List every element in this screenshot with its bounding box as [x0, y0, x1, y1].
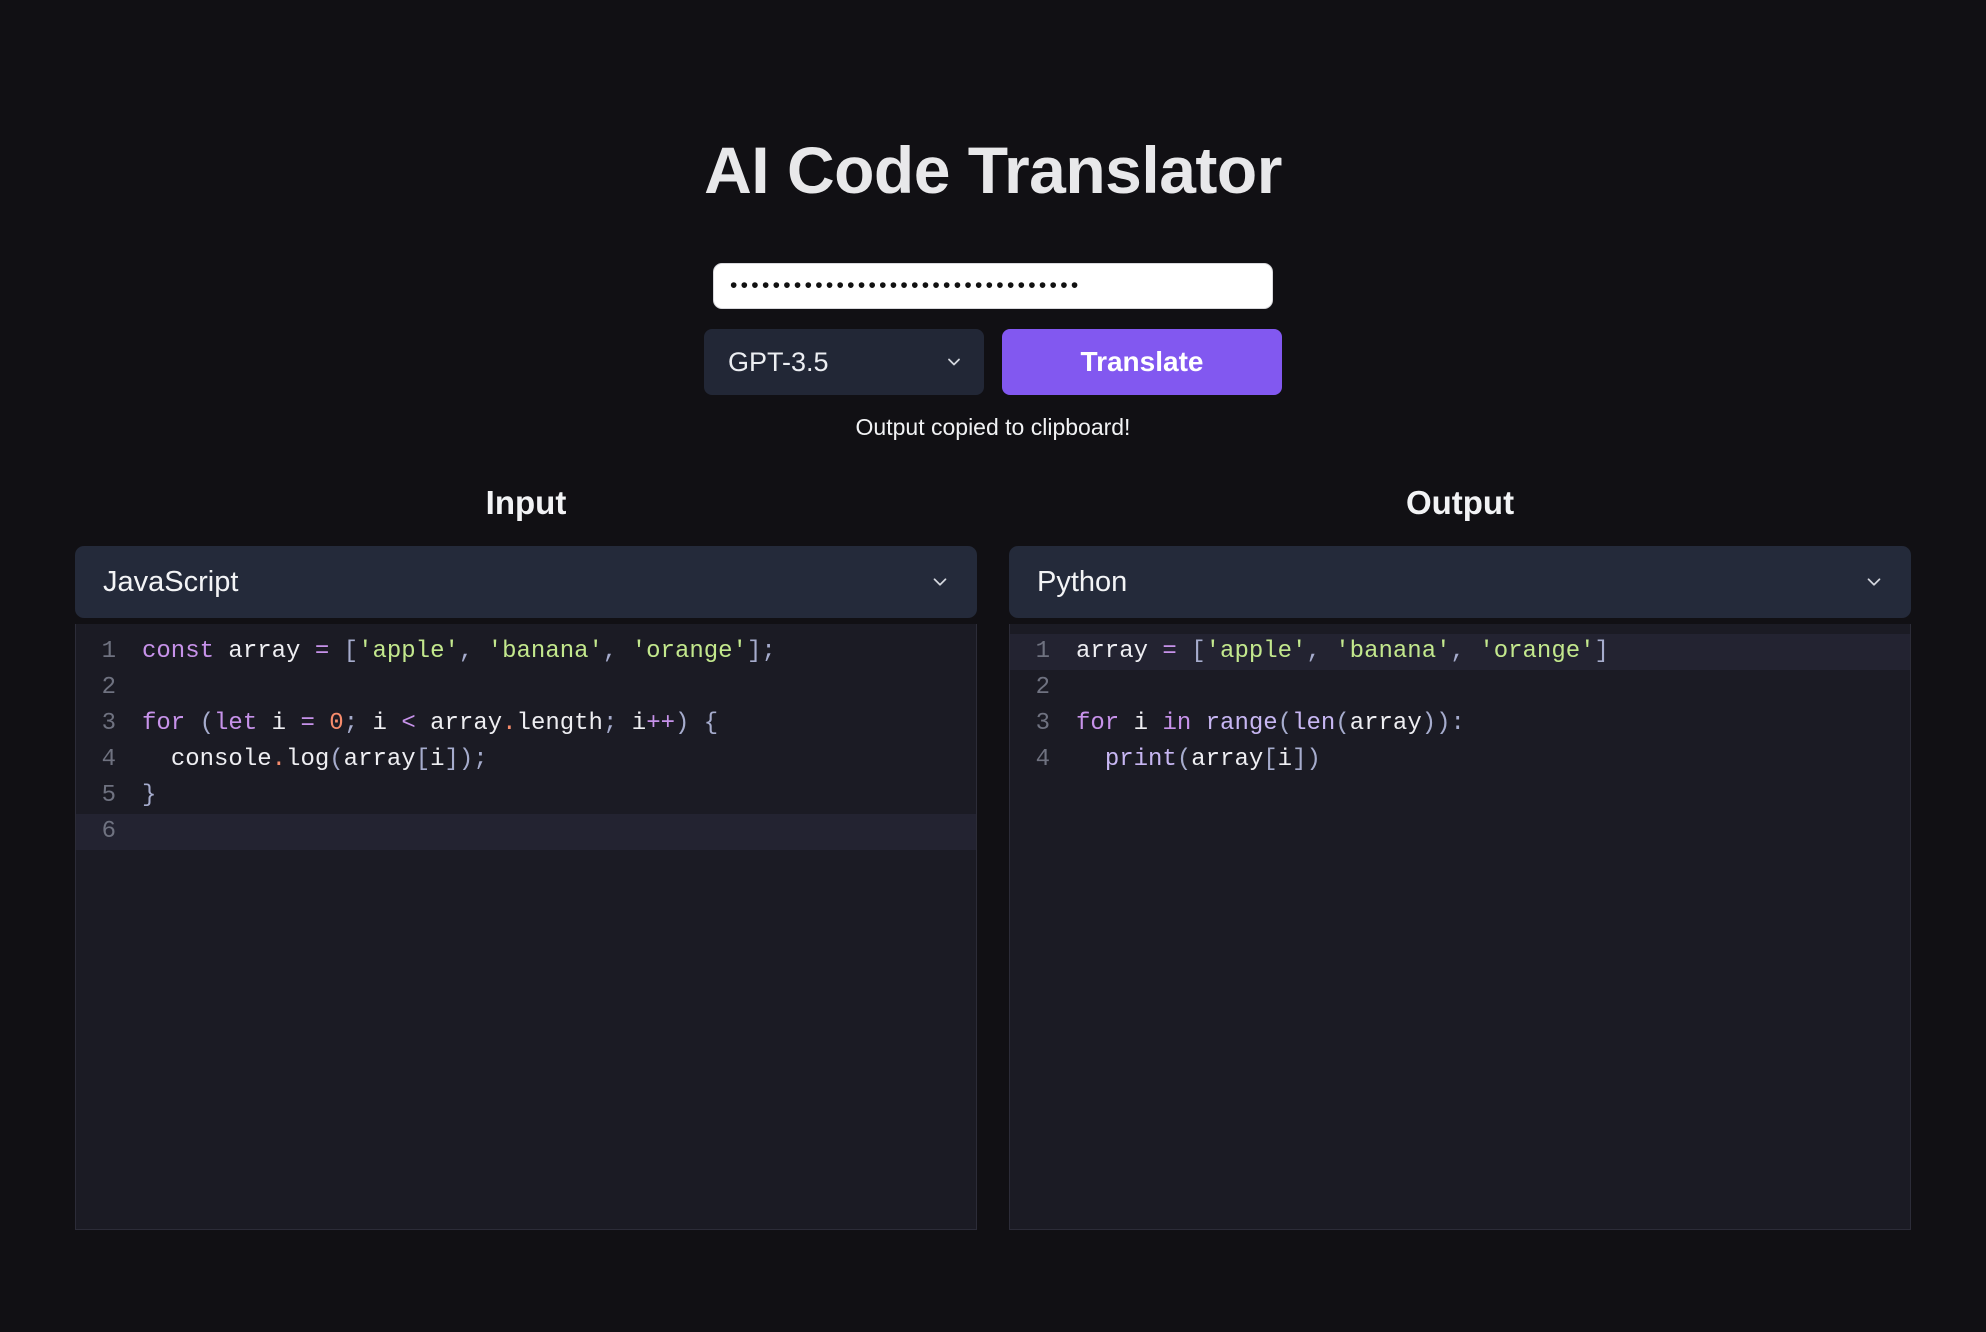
- code-token: range: [1206, 710, 1278, 737]
- code-token: print: [1105, 746, 1177, 773]
- code-token: length: [517, 710, 603, 737]
- code-token: [387, 710, 401, 737]
- code-token: i: [272, 710, 286, 737]
- model-select[interactable]: GPT-3.5: [704, 329, 984, 395]
- output-pane-title: Output: [1009, 484, 1911, 522]
- code-token: [1177, 638, 1191, 665]
- line-number: 2: [1010, 670, 1062, 706]
- code-token: [185, 710, 199, 737]
- code-token: array: [1191, 746, 1263, 773]
- code-line: 1array = ['apple', 'banana', 'orange']: [1010, 634, 1910, 670]
- code-token: ,: [1306, 638, 1320, 665]
- code-text: }: [128, 778, 156, 814]
- code-token: [329, 638, 343, 665]
- line-number: 4: [76, 742, 128, 778]
- code-token: array: [430, 710, 502, 737]
- code-text: for i in range(len(array)):: [1062, 706, 1465, 742]
- code-token: [286, 710, 300, 737]
- status-message: Output copied to clipboard!: [0, 414, 1986, 441]
- code-token: let: [214, 710, 257, 737]
- code-token: [: [1263, 746, 1277, 773]
- chevron-down-icon: [944, 352, 964, 372]
- panes-container: Input JavaScript 1const array = ['apple'…: [0, 484, 1986, 1230]
- code-token: 'apple': [1206, 638, 1307, 665]
- code-token: [1076, 746, 1105, 773]
- code-text: const array = ['apple', 'banana', 'orang…: [128, 634, 776, 670]
- code-token: 'banana': [1335, 638, 1450, 665]
- code-token: [257, 710, 271, 737]
- code-line: 1const array = ['apple', 'banana', 'oran…: [76, 634, 976, 670]
- input-language-select[interactable]: JavaScript: [75, 546, 977, 618]
- code-token: i: [430, 746, 444, 773]
- code-text: array = ['apple', 'banana', 'orange']: [1062, 634, 1609, 670]
- model-select-label: GPT-3.5: [728, 347, 829, 378]
- code-token: 'orange': [1479, 638, 1594, 665]
- code-token: 'apple': [358, 638, 459, 665]
- code-token: [: [1191, 638, 1205, 665]
- code-token: (: [1335, 710, 1349, 737]
- code-line: 4 console.log(array[i]);: [76, 742, 976, 778]
- code-line: 5}: [76, 778, 976, 814]
- code-token: =: [300, 710, 314, 737]
- input-pane-title: Input: [75, 484, 977, 522]
- code-token: [142, 746, 171, 773]
- code-token: array: [1076, 638, 1148, 665]
- code-token: }: [142, 782, 156, 809]
- code-token: (: [200, 710, 214, 737]
- code-token: <: [401, 710, 415, 737]
- code-token: [1119, 710, 1133, 737]
- code-token: 0: [329, 710, 343, 737]
- code-token: (: [329, 746, 343, 773]
- line-number: 4: [1010, 742, 1062, 778]
- code-token: i: [632, 710, 646, 737]
- chevron-down-icon: [1863, 571, 1885, 593]
- code-token: ++: [646, 710, 675, 737]
- output-language-select[interactable]: Python: [1009, 546, 1911, 618]
- code-token: ]: [1595, 638, 1609, 665]
- code-token: [473, 638, 487, 665]
- code-line: 3for i in range(len(array)):: [1010, 706, 1910, 742]
- code-line: 3for (let i = 0; i < array.length; i++) …: [76, 706, 976, 742]
- code-token: [315, 710, 329, 737]
- chevron-down-icon: [929, 571, 951, 593]
- code-token: ,: [459, 638, 473, 665]
- output-pane: Output Python 1array = ['apple', 'banana…: [1009, 484, 1911, 1230]
- code-token: ;: [603, 710, 632, 737]
- code-token: =: [315, 638, 329, 665]
- line-number: 1: [76, 634, 128, 670]
- code-text: console.log(array[i]);: [128, 742, 488, 778]
- code-token: console: [171, 746, 272, 773]
- code-token: i: [1134, 710, 1148, 737]
- code-token: [1148, 710, 1162, 737]
- page-title: AI Code Translator: [0, 0, 1986, 205]
- code-token: ]);: [445, 746, 488, 773]
- code-token: const: [142, 638, 214, 665]
- code-token: [300, 638, 314, 665]
- api-key-row: •••••••••••••••••••••••••••••••••: [0, 263, 1986, 309]
- code-token: ];: [747, 638, 776, 665]
- code-token: log: [286, 746, 329, 773]
- code-token: [416, 710, 430, 737]
- input-pane: Input JavaScript 1const array = ['apple'…: [75, 484, 977, 1230]
- code-token: in: [1162, 710, 1191, 737]
- code-token: ]): [1292, 746, 1321, 773]
- code-token: i: [373, 710, 387, 737]
- code-token: array: [344, 746, 416, 773]
- code-line: 2: [76, 670, 976, 706]
- code-token: [: [416, 746, 430, 773]
- code-token: i: [1278, 746, 1292, 773]
- code-text: for (let i = 0; i < array.length; i++) {: [128, 706, 718, 742]
- code-token: (: [1278, 710, 1292, 737]
- line-number: 2: [76, 670, 128, 706]
- code-token: ,: [603, 638, 617, 665]
- translate-button[interactable]: Translate: [1002, 329, 1282, 395]
- code-token: for: [1076, 710, 1119, 737]
- code-line: 4 print(array[i]): [1010, 742, 1910, 778]
- code-token: (: [1177, 746, 1191, 773]
- code-line: 6: [76, 814, 976, 850]
- code-token: .: [502, 710, 516, 737]
- line-number: 1: [1010, 634, 1062, 670]
- code-token: array: [1350, 710, 1422, 737]
- line-number: 3: [76, 706, 128, 742]
- code-token: len: [1292, 710, 1335, 737]
- code-token: [: [344, 638, 358, 665]
- api-key-input[interactable]: •••••••••••••••••••••••••••••••••: [713, 263, 1273, 309]
- code-token: ,: [1451, 638, 1465, 665]
- code-token: 'orange': [632, 638, 747, 665]
- code-token: [1465, 638, 1479, 665]
- code-token: array: [228, 638, 300, 665]
- code-token: [617, 638, 631, 665]
- code-token: .: [272, 746, 286, 773]
- code-token: )):: [1422, 710, 1465, 737]
- line-number: 5: [76, 778, 128, 814]
- code-token: for: [142, 710, 185, 737]
- input-language-label: JavaScript: [103, 566, 238, 599]
- code-token: [214, 638, 228, 665]
- code-token: 'banana': [488, 638, 603, 665]
- app-root: AI Code Translator •••••••••••••••••••••…: [0, 0, 1986, 1332]
- code-token: [1148, 638, 1162, 665]
- output-code-editor[interactable]: 1array = ['apple', 'banana', 'orange']23…: [1009, 624, 1911, 1230]
- code-token: ;: [344, 710, 373, 737]
- code-token: =: [1162, 638, 1176, 665]
- code-token: [1191, 710, 1205, 737]
- line-number: 3: [1010, 706, 1062, 742]
- code-token: ) {: [675, 710, 718, 737]
- input-code-editor[interactable]: 1const array = ['apple', 'banana', 'oran…: [75, 624, 977, 1230]
- code-token: [1321, 638, 1335, 665]
- controls-row: GPT-3.5 Translate: [0, 329, 1986, 395]
- code-line: 2: [1010, 670, 1910, 706]
- output-language-label: Python: [1037, 566, 1127, 599]
- line-number: 6: [76, 814, 128, 850]
- code-text: print(array[i]): [1062, 742, 1321, 778]
